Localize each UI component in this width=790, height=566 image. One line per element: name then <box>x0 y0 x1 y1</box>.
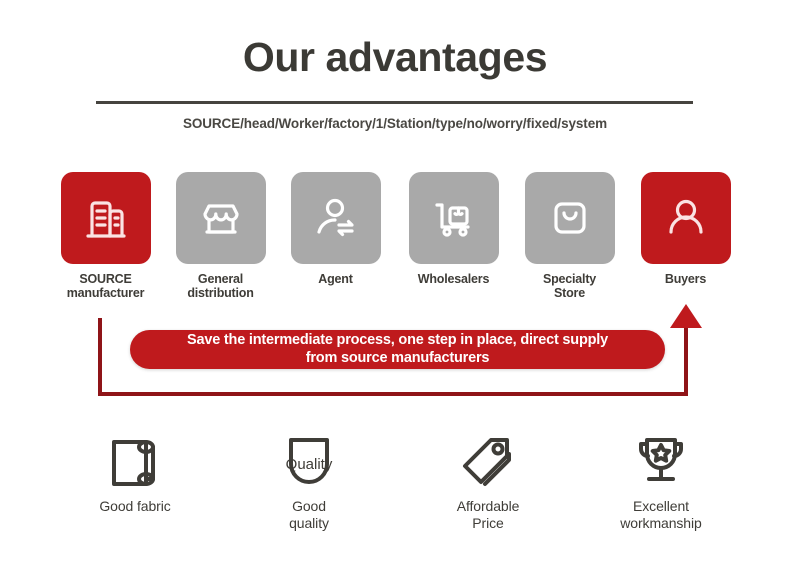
page-subtitle: SOURCE/head/Worker/factory/1/Station/typ… <box>0 116 790 131</box>
factory-building-icon <box>80 192 132 244</box>
shopping-bag-icon <box>544 192 596 244</box>
banner-pill: Save the intermediate process, one step … <box>130 330 665 369</box>
feature-label: Good fabric <box>60 498 210 515</box>
agent-exchange-icon <box>310 192 362 244</box>
price-tag-icon <box>413 428 563 498</box>
chain-node-wholesalers[interactable]: Wholesalers <box>400 172 507 286</box>
bracket-bottom-stroke <box>98 392 688 396</box>
page-title: Our advantages <box>0 36 790 79</box>
banner-text: Save the intermediate process, one step … <box>173 332 622 367</box>
quality-inner-text: Quality <box>286 456 333 473</box>
chain-node-buyers[interactable]: Buyers <box>632 172 739 286</box>
supply-chain-row: SOURCE manufacturer General distribution <box>0 172 790 297</box>
chain-tile-buyers[interactable] <box>641 172 731 264</box>
fabric-roll-icon <box>60 428 210 498</box>
chain-node-general-distribution[interactable]: General distribution <box>167 172 274 301</box>
chain-node-label: Specialty Store <box>516 272 623 301</box>
storefront-icon <box>195 192 247 244</box>
chain-tile-general-distribution[interactable] <box>176 172 266 264</box>
chain-node-label: SOURCE manufacturer <box>52 272 159 301</box>
up-arrow-icon <box>670 304 702 328</box>
quality-shield-icon: Quality <box>234 428 384 498</box>
chain-tile-source-manufacturer[interactable] <box>61 172 151 264</box>
feature-label: Affordable Price <box>413 498 563 532</box>
chain-tile-specialty-store[interactable] <box>525 172 615 264</box>
bracket-right-stroke <box>684 326 688 396</box>
advantages-infographic: Our advantages SOURCE/head/Worker/factor… <box>0 0 790 566</box>
person-buyer-icon <box>660 192 712 244</box>
chain-node-label: Buyers <box>632 272 739 286</box>
trophy-star-icon <box>586 428 736 498</box>
feature-good-fabric[interactable]: Good fabric <box>60 428 210 515</box>
cart-package-icon <box>428 192 480 244</box>
features-row: Good fabric Quality Good quality <box>0 428 790 548</box>
feature-label: Good quality <box>234 498 384 532</box>
feature-label: Excellent workmanship <box>586 498 736 532</box>
chain-node-label: Agent <box>282 272 389 286</box>
chain-tile-agent[interactable] <box>291 172 381 264</box>
chain-node-agent[interactable]: Agent <box>282 172 389 286</box>
bracket-left-stroke <box>98 318 102 396</box>
chain-node-label: Wholesalers <box>400 272 507 286</box>
feature-affordable-price[interactable]: Affordable Price <box>413 428 563 532</box>
highlight-bracket: Save the intermediate process, one step … <box>0 300 790 410</box>
chain-node-label: General distribution <box>167 272 274 301</box>
chain-node-source-manufacturer[interactable]: SOURCE manufacturer <box>52 172 159 301</box>
feature-good-quality[interactable]: Quality Good quality <box>234 428 384 532</box>
title-divider <box>96 101 693 104</box>
feature-excellent-workmanship[interactable]: Excellent workmanship <box>586 428 736 532</box>
chain-tile-wholesalers[interactable] <box>409 172 499 264</box>
chain-node-specialty-store[interactable]: Specialty Store <box>516 172 623 301</box>
